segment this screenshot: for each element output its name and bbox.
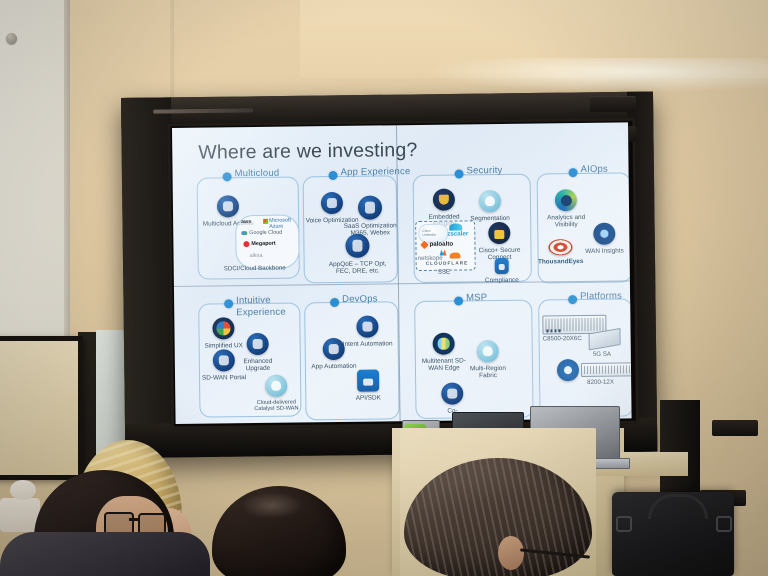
bag-clip-left	[616, 516, 632, 532]
tile-caption: Intent Automation	[343, 340, 393, 349]
shield-icon	[433, 189, 455, 211]
tile-saas-optimization: SaaS Optimization M365, Webex	[343, 195, 398, 238]
eyeglasses-temple	[520, 548, 592, 564]
conference-room-photo: Where are we investing? Multicloud Multi…	[0, 0, 768, 576]
logo-megaport-mark	[243, 241, 249, 247]
section-label-security: Security	[466, 165, 502, 176]
section-label-msp: MSP	[466, 292, 487, 303]
co-management-icon	[441, 382, 463, 404]
tile-co-management: Co-	[425, 382, 479, 415]
tv-mount-bracket	[712, 420, 758, 436]
segmentation-icon	[479, 190, 501, 212]
logo-alkira: alkira	[250, 253, 263, 259]
logo-microsoft-azure: MicrosoftAzure	[269, 218, 291, 230]
attendee-shoulder	[0, 532, 210, 576]
section-label-aiops: AIOps	[580, 164, 608, 175]
section-dot-intuitive-experience	[224, 299, 233, 308]
tile-caption-sse: SSE	[438, 269, 450, 276]
wall-fixture-screw	[6, 33, 17, 44]
section-dot-platforms	[568, 295, 577, 304]
tile-caption-sdci: SDCI/Cloud Backbone	[224, 265, 286, 273]
tile-caption: Multi-Region Fabric	[461, 364, 515, 381]
tile-caption: Enhanced Upgrade	[231, 357, 285, 374]
logo-google-cloud: Google Cloud	[249, 230, 282, 236]
screen-reflection-horizontal	[174, 280, 630, 287]
section-label-devops: DevOps	[342, 294, 378, 305]
page-title: Where are we investing?	[198, 139, 417, 165]
logo-microsoft-mark	[263, 219, 268, 224]
logo-google-mark	[241, 231, 247, 235]
tile-api-sdk: API/SDK	[341, 369, 395, 402]
cloud-delivered-icon	[265, 375, 287, 397]
tile-caption-5gsa: 5G SA	[593, 351, 611, 358]
tile-enhanced-upgrade: Enhanced Upgrade	[231, 333, 285, 374]
lock-icon	[488, 222, 510, 244]
section-dot-aiops	[569, 168, 578, 177]
tile-multi-region-fabric: Multi-Region Fabric	[461, 340, 515, 381]
section-dot-multicloud	[223, 172, 232, 181]
logo-paloalto: paloalto	[429, 241, 453, 248]
section-label-intuitive-experience: Intuitive Experience	[236, 295, 290, 319]
tile-thousandeyes: ThousandEyes	[533, 239, 587, 266]
tile-caption: SD-WAN Portal	[202, 374, 246, 382]
coffee-cup-lid	[10, 480, 36, 500]
intent-automation-icon	[356, 315, 378, 337]
tv-mount-bracket	[590, 96, 636, 112]
tile-compliance: Compliance	[478, 258, 526, 285]
thousandeyes-eye-icon	[548, 239, 572, 255]
logo-zscaler: zscaler	[447, 230, 468, 237]
tile-appqoe: AppQoE – TCP Opt, FEC, DRE, etc.	[321, 233, 394, 276]
appqoe-icon	[345, 234, 369, 258]
bag-clip-right	[716, 516, 732, 532]
tile-cloud-delivered-catalyst: Cloud-delivered Catalyst SD-WAN	[247, 374, 305, 413]
section-label-platforms: Platforms	[580, 291, 622, 303]
tile-caption: Cloud-delivered Catalyst SD-WAN	[247, 399, 305, 414]
logo-megaport: Megaport	[251, 241, 275, 247]
saas-optimization-icon	[358, 195, 382, 219]
multicloud-access-icon	[217, 195, 239, 217]
wan-insights-icon	[593, 223, 615, 245]
wall-panel-left	[0, 336, 83, 480]
tile-cisco-secure-connect: Cisco+ Secure Connect	[477, 222, 521, 263]
multi-region-fabric-icon	[477, 340, 499, 362]
section-label-multicloud: Multicloud	[234, 168, 279, 180]
checklist-icon	[495, 258, 509, 274]
tile-caption: WAN Insights	[585, 247, 624, 255]
router-small-icon	[581, 362, 632, 377]
analytics-icon	[555, 189, 577, 211]
section-dot-devops	[330, 298, 339, 307]
tile-caption-8200: 8200-12X	[587, 379, 614, 386]
ceiling-light-glow	[430, 58, 768, 92]
presentation-slide: Where are we investing? Multicloud Multi…	[172, 122, 632, 424]
tile-caption-c8500: C8500-20X6C	[543, 335, 582, 342]
tile-caption: AppQoE – TCP Opt, FEC, DRE, etc.	[322, 260, 394, 277]
logo-cloudflare: CLOUDFLARE	[426, 260, 469, 266]
multitenant-icon	[433, 333, 455, 355]
logo-aws: aws	[241, 219, 251, 225]
api-sdk-icon	[357, 369, 379, 391]
gear-icon	[557, 359, 579, 381]
tile-caption: API/SDK	[356, 394, 381, 402]
logo-cloudflare-mark	[450, 252, 461, 258]
tile-caption: ThousandEyes	[538, 257, 584, 265]
upgrade-icon	[247, 333, 269, 355]
section-label-app-experience: App Experience	[340, 166, 410, 178]
section-dot-msp	[454, 296, 463, 305]
tile-intent-automation: Intent Automation	[340, 315, 394, 348]
section-dot-app-experience	[329, 171, 338, 180]
section-dot-security	[455, 169, 464, 178]
tile-segmentation: Segmentation	[463, 190, 517, 223]
microphone-icon	[321, 192, 343, 214]
eyeglasses	[104, 512, 166, 532]
